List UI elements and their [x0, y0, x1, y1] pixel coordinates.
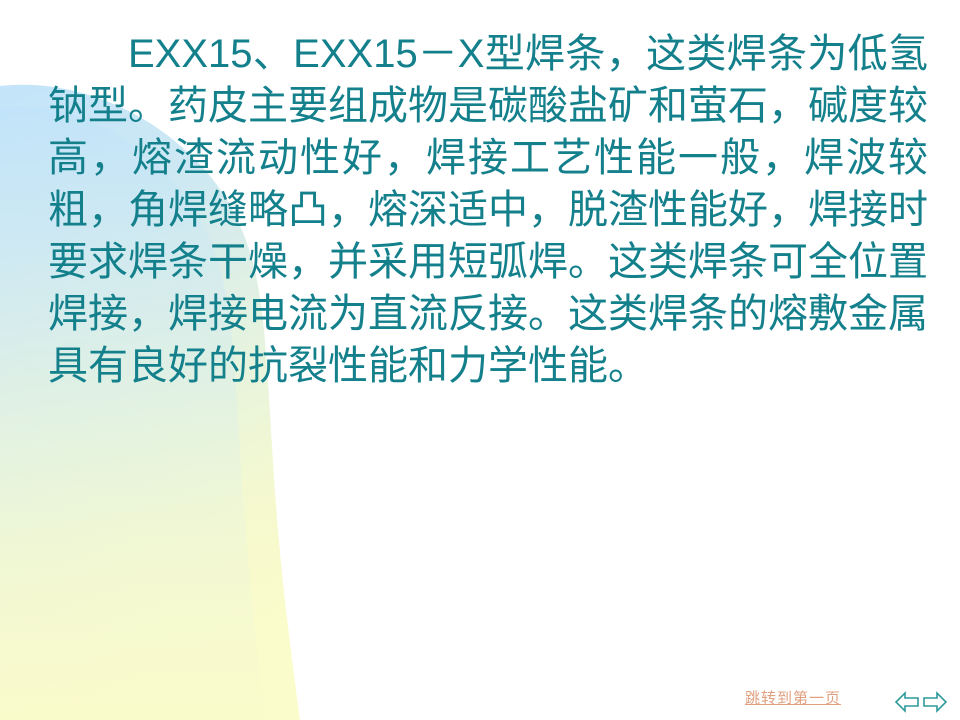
right-arrow-icon[interactable] — [922, 691, 948, 713]
jump-to-first-page-link[interactable]: 跳转到第一页 — [745, 690, 841, 708]
left-arrow-icon[interactable] — [894, 691, 920, 713]
slide-navigation — [894, 690, 948, 714]
slide-body-text: EXX15、EXX15－X型焊条，这类焊条为低氢钠型。药皮主要组成物是碳酸盐矿和… — [48, 28, 928, 392]
slide-canvas: EXX15、EXX15－X型焊条，这类焊条为低氢钠型。药皮主要组成物是碳酸盐矿和… — [0, 0, 960, 720]
